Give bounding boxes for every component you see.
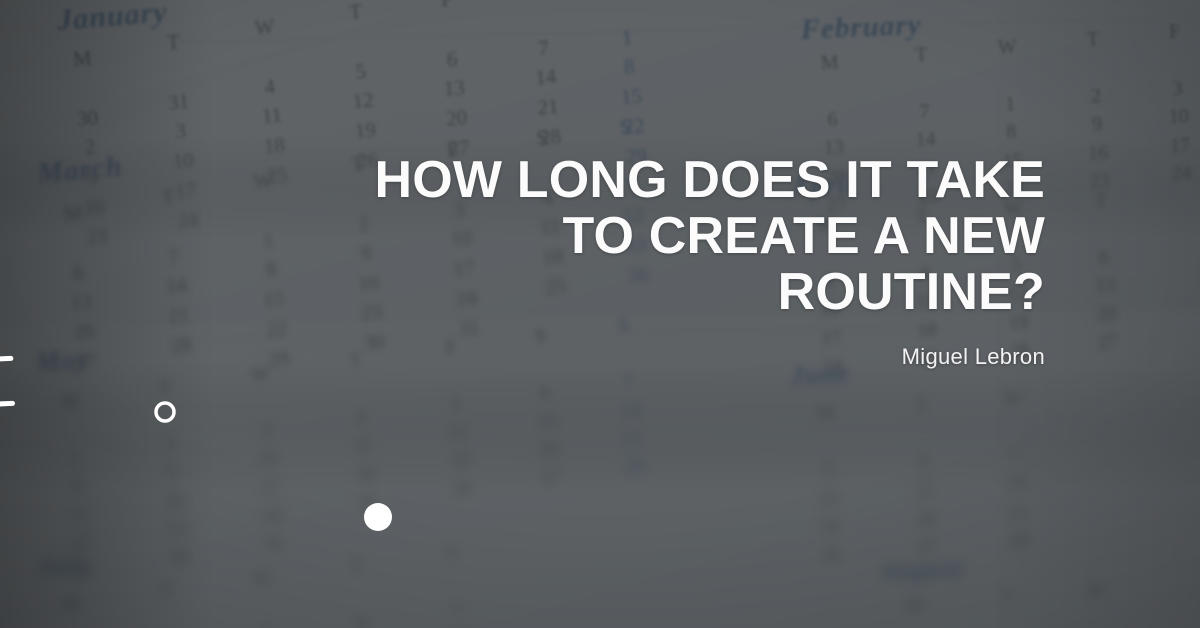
- page-title: HOW LONG DOES IT TAKETO CREATE A NEWROUT…: [205, 152, 1045, 320]
- text-block: HOW LONG DOES IT TAKETO CREATE A NEWROUT…: [205, 152, 1045, 370]
- headline-line-1: HOW LONG DOES IT TAKE: [205, 152, 1045, 208]
- author-name: Miguel Lebron: [205, 344, 1045, 370]
- social-card: JanuaryM 30 2 9 16 23T 31 3 10 17 24W 4 …: [0, 0, 1200, 628]
- headline-line-3: ROUTINE?: [205, 264, 1045, 320]
- headline-line-2: TO CREATE A NEW: [205, 208, 1045, 264]
